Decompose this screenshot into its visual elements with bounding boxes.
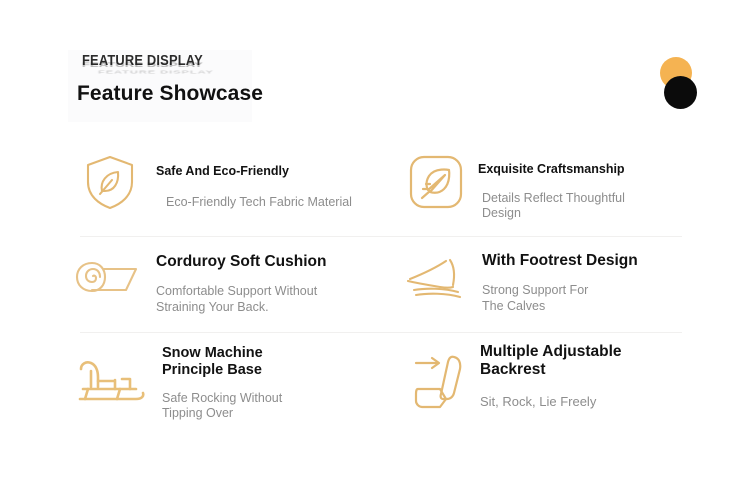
feather-quill-icon bbox=[408, 154, 464, 210]
feature-subtitle: Strong Support For The Calves bbox=[482, 283, 638, 314]
feature-text: Safe And Eco-Friendly Eco-Friendly Tech … bbox=[156, 162, 352, 210]
footrest-foot-icon bbox=[406, 257, 470, 305]
feature-subtitle: Comfortable Support Without Straining Yo… bbox=[156, 284, 327, 315]
feature-text: Exquisite Craftsmanship Details Reflect … bbox=[478, 160, 625, 221]
decorative-circles bbox=[658, 57, 702, 111]
sleigh-base-icon bbox=[74, 355, 150, 411]
feature-item-cushion: Corduroy Soft Cushion Comfortable Suppor… bbox=[72, 237, 406, 333]
feature-item-craftsmanship: Exquisite Craftsmanship Details Reflect … bbox=[406, 144, 682, 237]
page-title: Feature Showcase bbox=[77, 82, 263, 106]
feature-subtitle: Details Reflect Thoughtful Design bbox=[482, 191, 625, 222]
feature-row: Corduroy Soft Cushion Comfortable Suppor… bbox=[72, 237, 682, 333]
header-kicker-ghost-secondary: FEATURE DISPLAY bbox=[98, 70, 214, 75]
feature-row: Safe And Eco-Friendly Eco-Friendly Tech … bbox=[72, 144, 682, 237]
black-circle-icon bbox=[664, 76, 697, 109]
feature-subtitle: Sit, Rock, Lie Freely bbox=[480, 394, 622, 410]
feature-title: Safe And Eco-Friendly bbox=[156, 164, 352, 179]
feature-text: Corduroy Soft Cushion Comfortable Suppor… bbox=[156, 251, 327, 315]
feature-title: Snow Machine Principle Base bbox=[162, 345, 282, 379]
rolled-mat-icon bbox=[74, 259, 144, 303]
feature-item-adjustable-backrest: Multiple Adjustable Backrest Sit, Rock, … bbox=[406, 333, 682, 433]
feature-showcase-page: FEATURE DISPLAY FEATURE DISPLAY FEATURE … bbox=[0, 0, 750, 492]
feature-text: Snow Machine Principle Base Safe Rocking… bbox=[162, 343, 282, 422]
feature-title: Corduroy Soft Cushion bbox=[156, 253, 327, 271]
feature-item-sleigh-base: Snow Machine Principle Base Safe Rocking… bbox=[72, 333, 406, 433]
feature-text: Multiple Adjustable Backrest Sit, Rock, … bbox=[480, 341, 622, 409]
feature-title: Multiple Adjustable Backrest bbox=[480, 343, 622, 380]
feature-item-safe-eco: Safe And Eco-Friendly Eco-Friendly Tech … bbox=[72, 144, 406, 237]
feature-subtitle: Safe Rocking Without Tipping Over bbox=[162, 391, 282, 422]
header-kicker-ghost: FEATURE DISPLAY bbox=[82, 61, 203, 69]
feature-subtitle: Eco-Friendly Tech Fabric Material bbox=[166, 195, 352, 210]
reclining-seat-arrow-icon bbox=[410, 349, 472, 411]
feature-grid: Safe And Eco-Friendly Eco-Friendly Tech … bbox=[72, 144, 682, 433]
feature-row: Snow Machine Principle Base Safe Rocking… bbox=[72, 333, 682, 433]
page-header: FEATURE DISPLAY FEATURE DISPLAY FEATURE … bbox=[72, 50, 252, 122]
feature-title: With Footrest Design bbox=[482, 252, 638, 270]
feature-title: Exquisite Craftsmanship bbox=[478, 162, 625, 177]
shield-leaf-icon bbox=[80, 152, 140, 212]
feature-item-footrest: With Footrest Design Strong Support For … bbox=[406, 237, 682, 333]
feature-text: With Footrest Design Strong Support For … bbox=[482, 250, 638, 314]
